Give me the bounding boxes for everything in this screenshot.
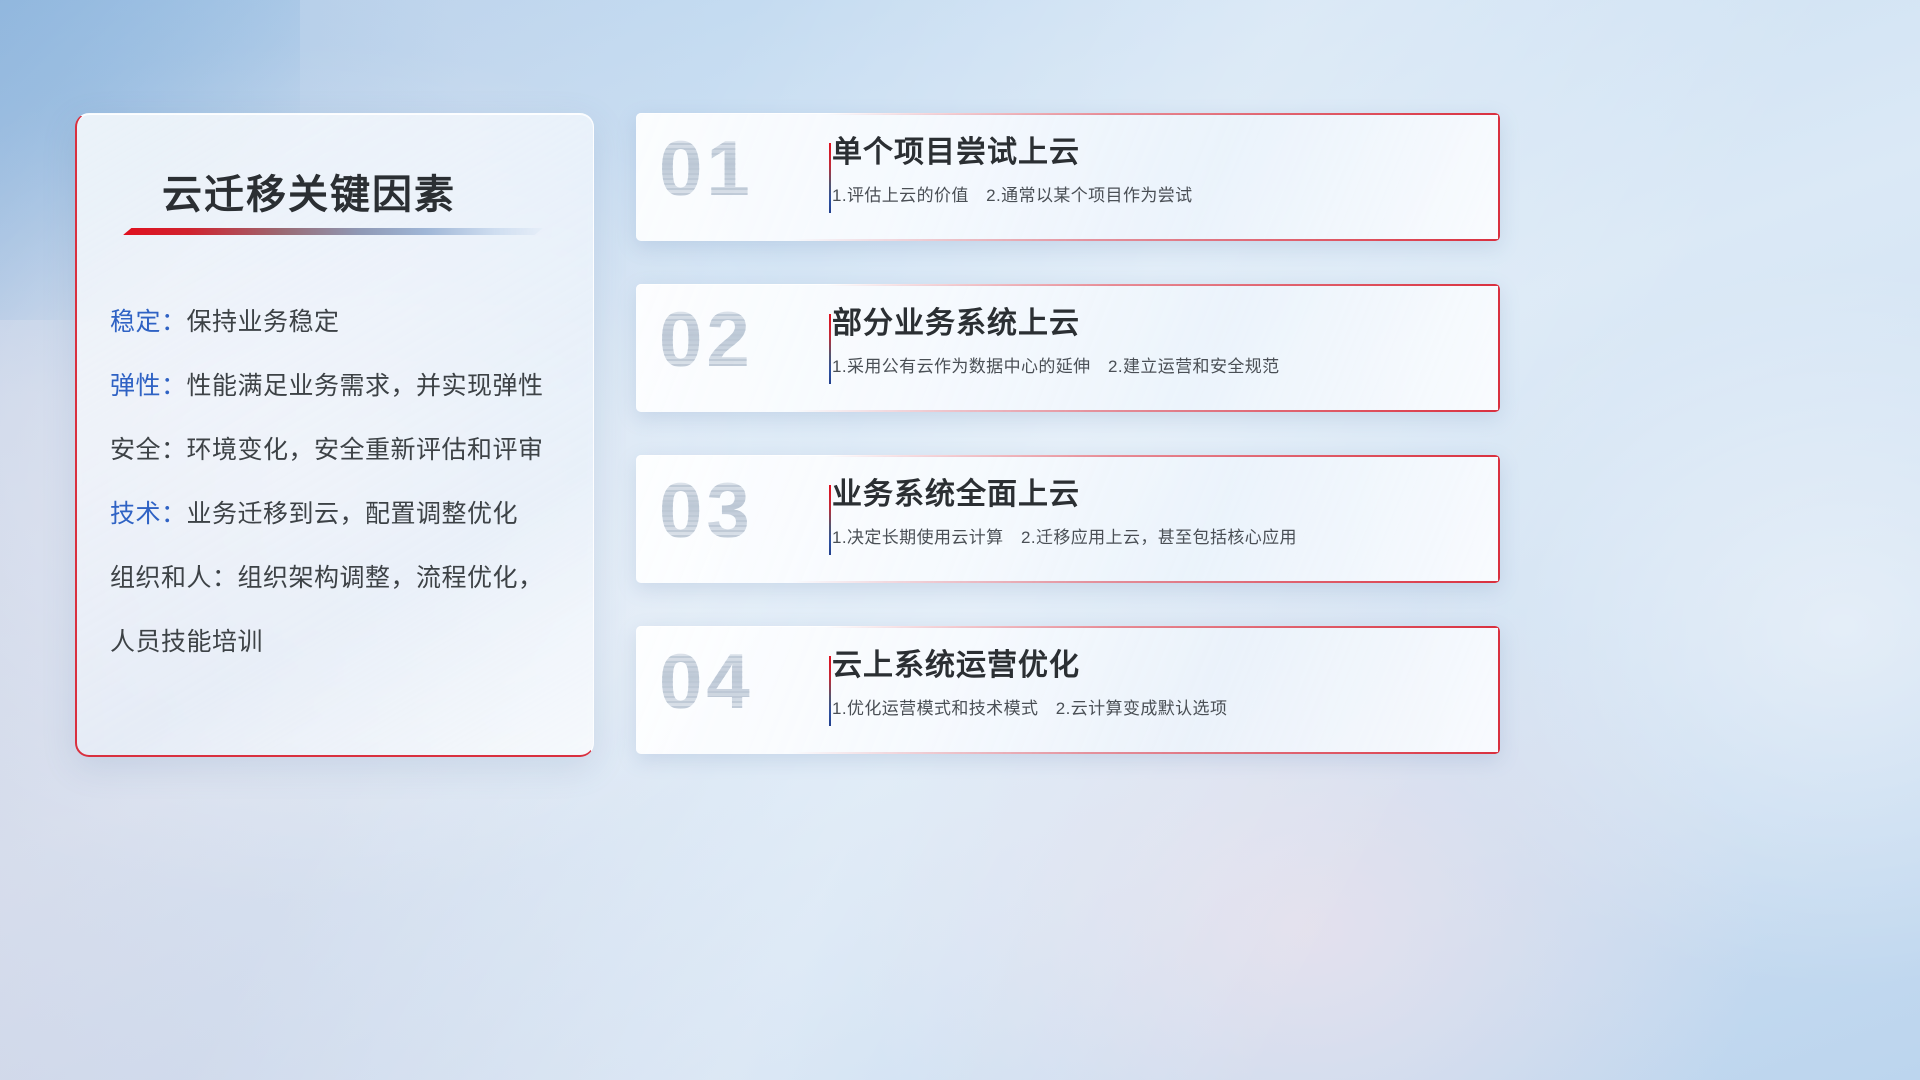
card-title: 云上系统运营优化 xyxy=(832,648,1482,684)
list-item-label: 技术： xyxy=(110,500,187,528)
stage-card[interactable]: 04 云上系统运营优化 1.优化运营模式和技术模式 2.云计算变成默认选项 xyxy=(636,626,1500,754)
card-accent-bottom xyxy=(636,752,1500,754)
list-item-value: 环境变化，安全重新评估和评审 xyxy=(187,436,544,464)
card-description: 1.采用公有云作为数据中心的延伸 2.建立运营和安全规范 xyxy=(832,356,1482,378)
card-accent-right xyxy=(1498,284,1500,412)
card-accent-top xyxy=(636,284,1500,286)
list-item: 技术：业务迁移到云，配置调整优化 xyxy=(110,502,569,527)
card-body: 部分业务系统上云 1.采用公有云作为数据中心的延伸 2.建立运营和安全规范 xyxy=(832,306,1482,378)
title-underline-rule xyxy=(123,228,543,235)
card-body: 业务系统全面上云 1.决定长期使用云计算 2.迁移应用上云，甚至包括核心应用 xyxy=(832,477,1482,549)
list-item-label: 稳定： xyxy=(110,308,187,336)
card-body: 云上系统运营优化 1.优化运营模式和技术模式 2.云计算变成默认选项 xyxy=(832,648,1482,720)
card-body: 单个项目尝试上云 1.评估上云的价值 2.通常以某个项目作为尝试 xyxy=(832,135,1482,207)
list-item-value: 保持业务稳定 xyxy=(187,308,340,336)
card-title: 部分业务系统上云 xyxy=(832,306,1482,342)
list-item-label: 弹性： xyxy=(110,372,187,400)
list-item-value: 业务迁移到云，配置调整优化 xyxy=(187,500,519,528)
list-item-label: 安全： xyxy=(110,436,187,464)
card-accent-right xyxy=(1498,113,1500,241)
list-item: 稳定：保持业务稳定 xyxy=(110,310,569,335)
key-factors-list: 稳定：保持业务稳定 弹性：性能满足业务需求，并实现弹性 安全：环境变化，安全重新… xyxy=(110,310,569,655)
card-accent-right xyxy=(1498,626,1500,754)
card-accent-top xyxy=(636,626,1500,628)
stage-card[interactable]: 02 部分业务系统上云 1.采用公有云作为数据中心的延伸 2.建立运营和安全规范 xyxy=(636,284,1500,412)
card-divider-rule xyxy=(829,656,831,726)
card-step-number: 03 xyxy=(659,465,754,556)
stage-card[interactable]: 01 单个项目尝试上云 1.评估上云的价值 2.通常以某个项目作为尝试 xyxy=(636,113,1500,241)
list-item: 组织和人：组织架构调整，流程优化， xyxy=(110,566,569,591)
card-accent-bottom xyxy=(636,239,1500,241)
card-title: 业务系统全面上云 xyxy=(832,477,1482,513)
card-accent-top xyxy=(636,113,1500,115)
page-title: 云迁移关键因素 xyxy=(162,162,456,220)
card-description: 1.评估上云的价值 2.通常以某个项目作为尝试 xyxy=(832,185,1482,207)
card-accent-right xyxy=(1498,455,1500,583)
card-divider-rule xyxy=(829,143,831,213)
list-item: 弹性：性能满足业务需求，并实现弹性 xyxy=(110,374,569,399)
list-item: 安全：环境变化，安全重新评估和评审 xyxy=(110,438,569,463)
stage-cards-list: 01 单个项目尝试上云 1.评估上云的价值 2.通常以某个项目作为尝试 02 部… xyxy=(636,113,1500,754)
list-item-value: 组织架构调整，流程优化， xyxy=(238,564,544,592)
stage-card[interactable]: 03 业务系统全面上云 1.决定长期使用云计算 2.迁移应用上云，甚至包括核心应… xyxy=(636,455,1500,583)
list-item-continuation: 人员技能培训 xyxy=(110,630,569,655)
card-description: 1.决定长期使用云计算 2.迁移应用上云，甚至包括核心应用 xyxy=(832,527,1482,549)
slide-stage: 云迁移关键因素 稳定：保持业务稳定 弹性：性能满足业务需求，并实现弹性 安全：环… xyxy=(0,0,1920,1080)
card-accent-top xyxy=(636,455,1500,457)
card-step-number: 01 xyxy=(659,123,754,214)
key-factors-panel: 云迁移关键因素 稳定：保持业务稳定 弹性：性能满足业务需求，并实现弹性 安全：环… xyxy=(75,113,594,757)
card-step-number: 02 xyxy=(659,294,754,385)
card-description: 1.优化运营模式和技术模式 2.云计算变成默认选项 xyxy=(832,698,1482,720)
card-accent-bottom xyxy=(636,410,1500,412)
list-item-label: 组织和人： xyxy=(110,564,238,592)
list-item-value: 性能满足业务需求，并实现弹性 xyxy=(187,372,544,400)
card-accent-bottom xyxy=(636,581,1500,583)
card-divider-rule xyxy=(829,485,831,555)
card-divider-rule xyxy=(829,314,831,384)
card-title: 单个项目尝试上云 xyxy=(832,135,1482,171)
card-step-number: 04 xyxy=(659,636,754,727)
